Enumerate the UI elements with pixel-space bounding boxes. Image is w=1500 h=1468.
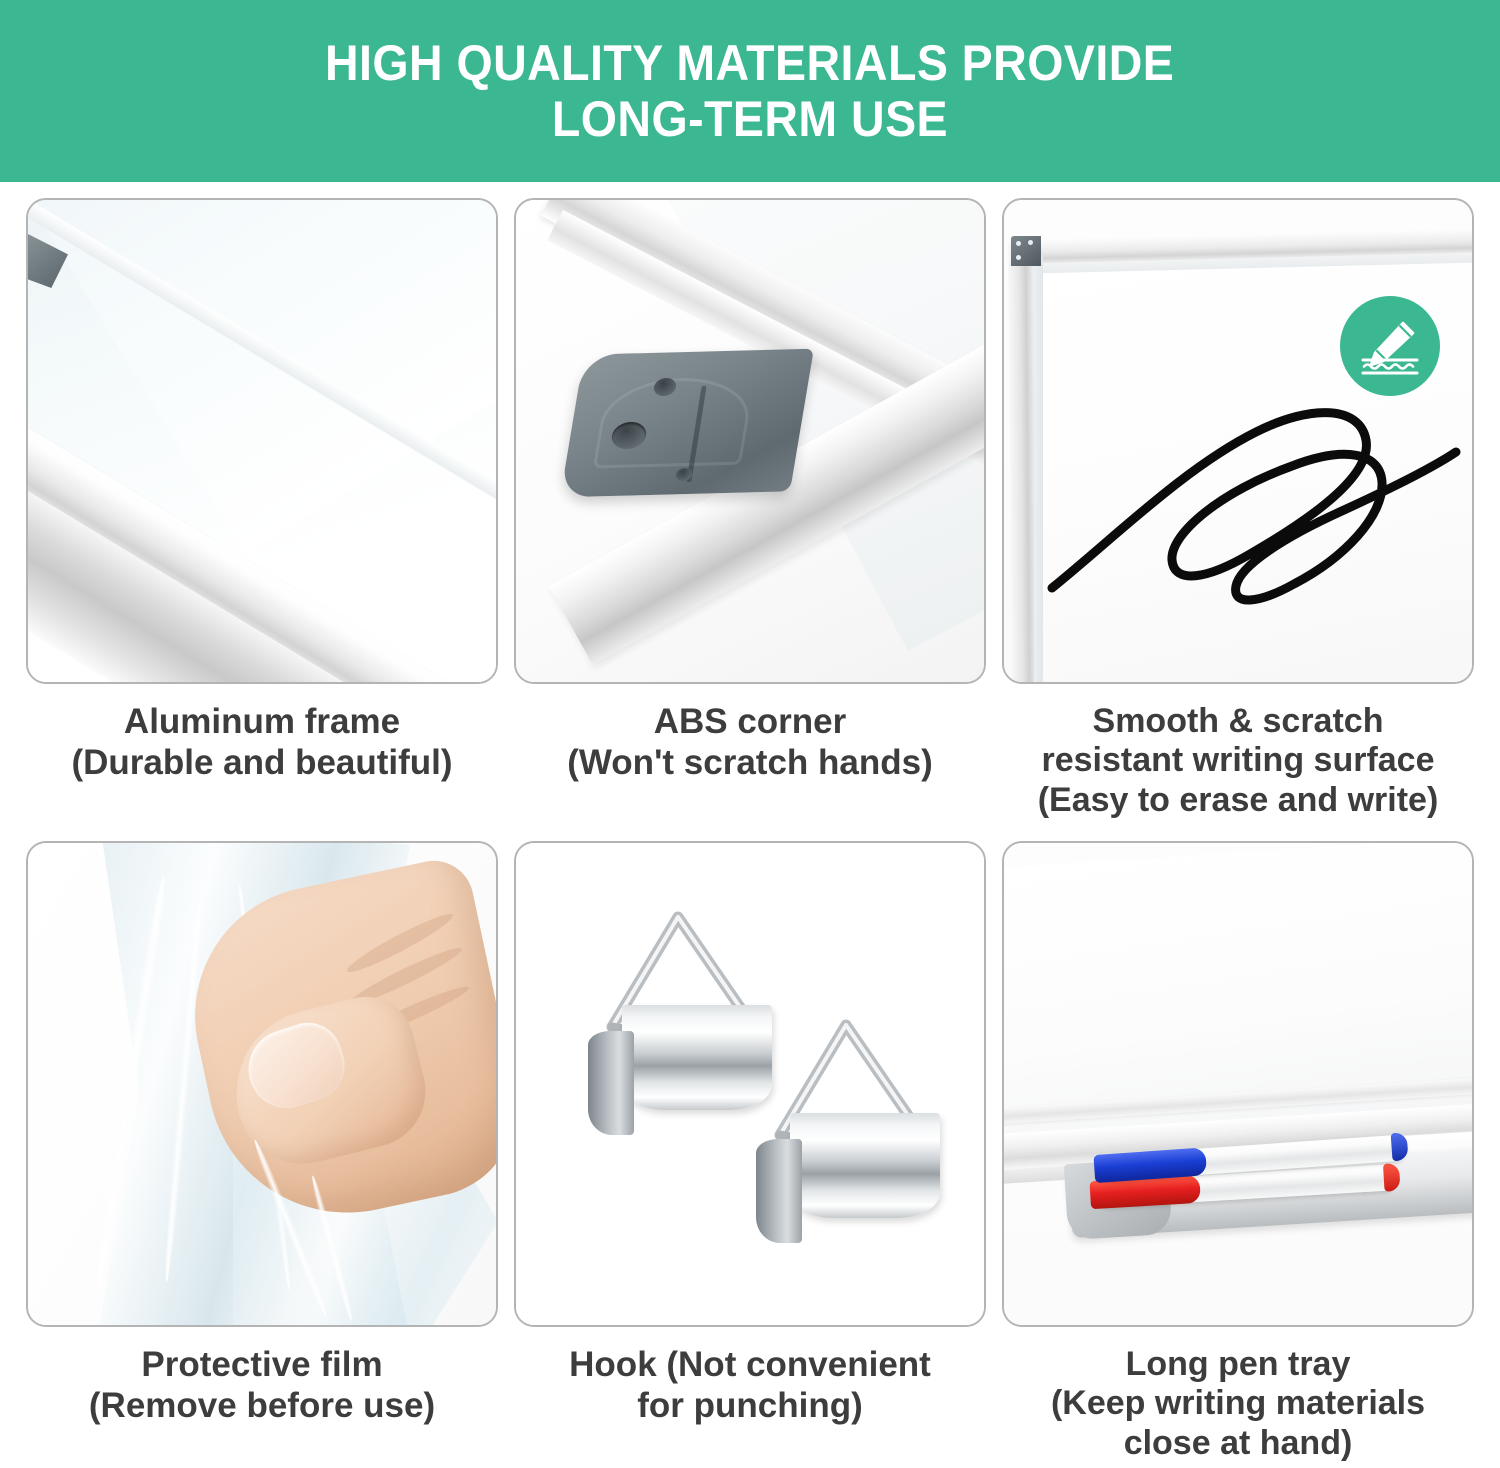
- caption-aluminum-frame: Aluminum frame (Durable and beautiful): [22, 702, 502, 783]
- caption-line: for punching): [510, 1386, 990, 1427]
- feature-cell-hook: Hook (Not convenient for punching): [506, 825, 994, 1468]
- caption-line: (Won't scratch hands): [510, 743, 990, 784]
- hook-body: [622, 1005, 772, 1110]
- feature-cell-aluminum-frame: Aluminum frame (Durable and beautiful): [18, 182, 506, 825]
- photo-abs-corner: [514, 198, 986, 684]
- hook-lip: [756, 1139, 802, 1243]
- signature-scribble-icon: [1044, 370, 1464, 640]
- caption-line: Hook (Not convenient: [510, 1345, 990, 1386]
- photo-writing-surface: [1002, 198, 1474, 684]
- photo-pen-tray: [1002, 841, 1474, 1327]
- caption-line: (Easy to erase and write): [998, 781, 1478, 820]
- photo-protective-film: [26, 841, 498, 1327]
- caption-line: close at hand): [998, 1424, 1478, 1463]
- caption-line: ABS corner: [510, 702, 990, 743]
- feature-cell-protective-film: Protective film (Remove before use): [18, 825, 506, 1468]
- caption-abs-corner: ABS corner (Won't scratch hands): [510, 702, 990, 783]
- photo-hook: [514, 841, 986, 1327]
- caption-line: (Remove before use): [22, 1386, 502, 1427]
- feature-cell-pen-tray: Long pen tray (Keep writing materials cl…: [994, 825, 1482, 1468]
- hook-lip: [588, 1031, 634, 1135]
- caption-line: resistant writing surface: [998, 741, 1478, 780]
- feature-grid: Aluminum frame (Durable and beautiful) A…: [0, 182, 1500, 1468]
- caption-writing-surface: Smooth & scratch resistant writing surfa…: [998, 702, 1478, 820]
- feature-cell-abs-corner: ABS corner (Won't scratch hands): [506, 182, 994, 825]
- caption-line: Aluminum frame: [22, 702, 502, 743]
- hook-item: [756, 1013, 956, 1243]
- caption-line: (Durable and beautiful): [22, 743, 502, 784]
- header-title-line-1: HIGH QUALITY MATERIALS PROVIDE: [325, 35, 1174, 91]
- header-banner: HIGH QUALITY MATERIALS PROVIDE LONG-TERM…: [0, 0, 1500, 182]
- header-title-line-2: LONG-TERM USE: [552, 91, 948, 147]
- hook-body: [790, 1113, 940, 1218]
- caption-protective-film: Protective film (Remove before use): [22, 1345, 502, 1426]
- caption-line: (Keep writing materials: [998, 1384, 1478, 1423]
- caption-line: Smooth & scratch: [998, 702, 1478, 741]
- caption-line: Protective film: [22, 1345, 502, 1386]
- caption-line: Long pen tray: [998, 1345, 1478, 1384]
- product-feature-infographic: HIGH QUALITY MATERIALS PROVIDE LONG-TERM…: [0, 0, 1500, 1468]
- feature-cell-writing-surface: Smooth & scratch resistant writing surfa…: [994, 182, 1482, 825]
- photo-aluminum-frame: [26, 198, 498, 684]
- caption-pen-tray: Long pen tray (Keep writing materials cl…: [998, 1345, 1478, 1463]
- board-corner-bracket-icon: [1011, 236, 1041, 266]
- caption-hook: Hook (Not convenient for punching): [510, 1345, 990, 1426]
